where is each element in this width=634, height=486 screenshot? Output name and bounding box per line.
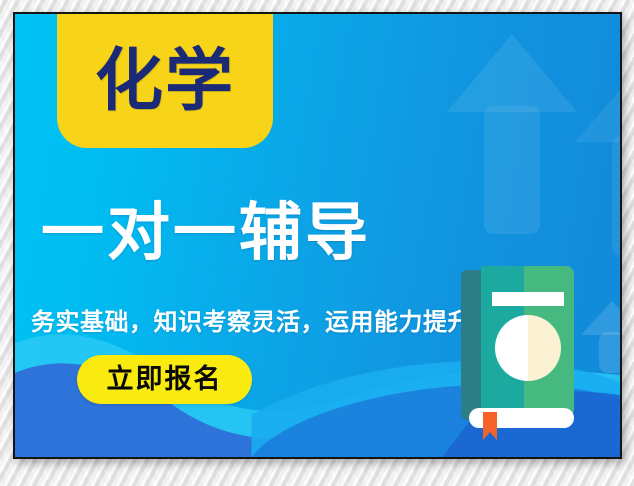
paper-backdrop: 化学 一对一辅导 务实基础，知识考察灵活，运用能力提升 立即报名 bbox=[0, 0, 634, 486]
poster-subtitle: 务实基础，知识考察灵活，运用能力提升 bbox=[31, 302, 481, 337]
signup-button-label: 立即报名 bbox=[107, 366, 223, 393]
arrow-shaft bbox=[484, 106, 540, 234]
up-arrow-icon bbox=[575, 66, 622, 256]
subject-badge-label: 化学 bbox=[95, 42, 235, 116]
subject-badge: 化学 bbox=[57, 12, 273, 148]
promo-poster: 化学 一对一辅导 务实基础，知识考察灵活，运用能力提升 立即报名 bbox=[13, 12, 622, 459]
arrow-head bbox=[575, 66, 622, 142]
book-cover-band bbox=[492, 292, 564, 306]
book-graphic bbox=[461, 260, 585, 442]
signup-button[interactable]: 立即报名 bbox=[77, 355, 252, 404]
poster-headline: 一对一辅导 bbox=[41, 200, 471, 266]
arrow-shaft bbox=[612, 136, 622, 256]
book-bookmark bbox=[483, 412, 497, 440]
textbook-illustration bbox=[461, 260, 585, 442]
arrow-head bbox=[447, 34, 577, 112]
